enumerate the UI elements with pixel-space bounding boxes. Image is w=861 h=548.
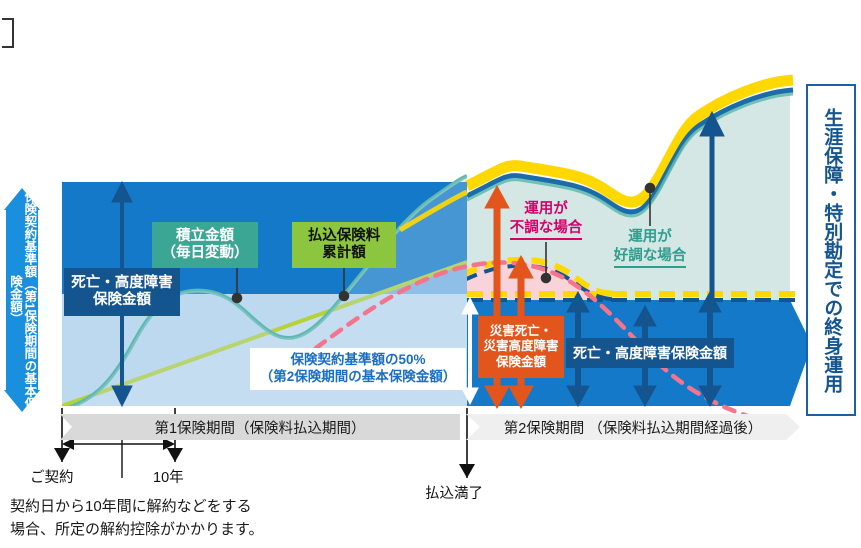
bad-performance-line2: 不調な場合 bbox=[510, 219, 583, 240]
disaster-benefit-line1: 災害死亡・ bbox=[490, 324, 553, 338]
tick-label-contract: ご契約 bbox=[30, 466, 74, 487]
contract-base-amount-label: 保険契約基準額（第1保険期間の基本保険金額） bbox=[2, 188, 42, 412]
half-base-amount-line2: （第2保険期間の基本保険金額） bbox=[260, 369, 457, 384]
death-benefit-period1-line1: 死亡・高度障害 bbox=[71, 275, 173, 291]
fund-value-line2: （毎日変動） bbox=[162, 245, 249, 261]
lifetime-coverage-box: 生涯保障・特別勘定での終身運用 bbox=[806, 84, 856, 416]
period2-band-label: 第2保険期間 （保険料払込期間経過後） bbox=[504, 417, 763, 438]
period1-band: 第1保険期間（保険料払込期間） bbox=[60, 414, 460, 440]
tick-label-10years: 10年 bbox=[153, 466, 184, 487]
period2-band: 第2保険期間 （保険料払込期間経過後） bbox=[466, 414, 800, 440]
disaster-benefit-line2: 災害高度障害 bbox=[483, 339, 558, 353]
diagram-canvas: 保険契約基準額（第1保険期間の基本保険金額） 生涯保障・特別勘定での終身運用 死… bbox=[0, 0, 861, 548]
footnote-line2: 場合、所定の解約控除がかかります。 bbox=[10, 519, 430, 542]
contract-base-amount-arrow: 保険契約基準額（第1保険期間の基本保険金額） bbox=[2, 188, 42, 412]
death-benefit-period1-label: 死亡・高度障害 保険金額 bbox=[64, 268, 180, 316]
bad-performance-line1: 運用が bbox=[524, 200, 568, 219]
paid-premium-line2: 累計額 bbox=[322, 245, 366, 261]
half-base-amount-callout: 保険契約基準額の50% （第2保険期間の基本保険金額） bbox=[250, 348, 466, 390]
half-base-amount-line1: 保険契約基準額の50% bbox=[290, 352, 425, 367]
good-performance-line1: 運用が bbox=[628, 228, 672, 247]
disaster-benefit-line3: 保険金額 bbox=[496, 355, 546, 369]
death-benefit-period2-label: 死亡・高度障害保険金額 bbox=[566, 338, 734, 368]
tick-label-paid-up: 払込満了 bbox=[425, 482, 483, 503]
disaster-benefit-label: 災害死亡・ 災害高度障害 保険金額 bbox=[478, 316, 564, 378]
death-benefit-period2-text: 死亡・高度障害保険金額 bbox=[573, 345, 727, 362]
corner-bracket-mark bbox=[2, 18, 14, 48]
lifetime-coverage-label: 生涯保障・特別勘定での終身運用 bbox=[808, 86, 854, 414]
footnote-line1: 契約日から10年間に解約などをする bbox=[10, 496, 430, 519]
footnote: 契約日から10年間に解約などをする 場合、所定の解約控除がかかります。 bbox=[10, 496, 430, 541]
good-performance-label: 運用が 好調な場合 bbox=[602, 226, 698, 270]
good-performance-line2: 好調な場合 bbox=[614, 247, 687, 268]
paid-premium-label: 払込保険料 累計額 bbox=[292, 222, 396, 268]
paid-premium-line1: 払込保険料 bbox=[308, 228, 381, 244]
death-benefit-period1-line2: 保険金額 bbox=[93, 292, 151, 308]
bad-performance-label: 運用が 不調な場合 bbox=[498, 198, 594, 242]
fund-value-line1: 積立金額 bbox=[176, 228, 234, 244]
fund-value-label: 積立金額 （毎日変動） bbox=[152, 222, 258, 268]
period1-band-label: 第1保険期間（保険料払込期間） bbox=[154, 417, 365, 438]
